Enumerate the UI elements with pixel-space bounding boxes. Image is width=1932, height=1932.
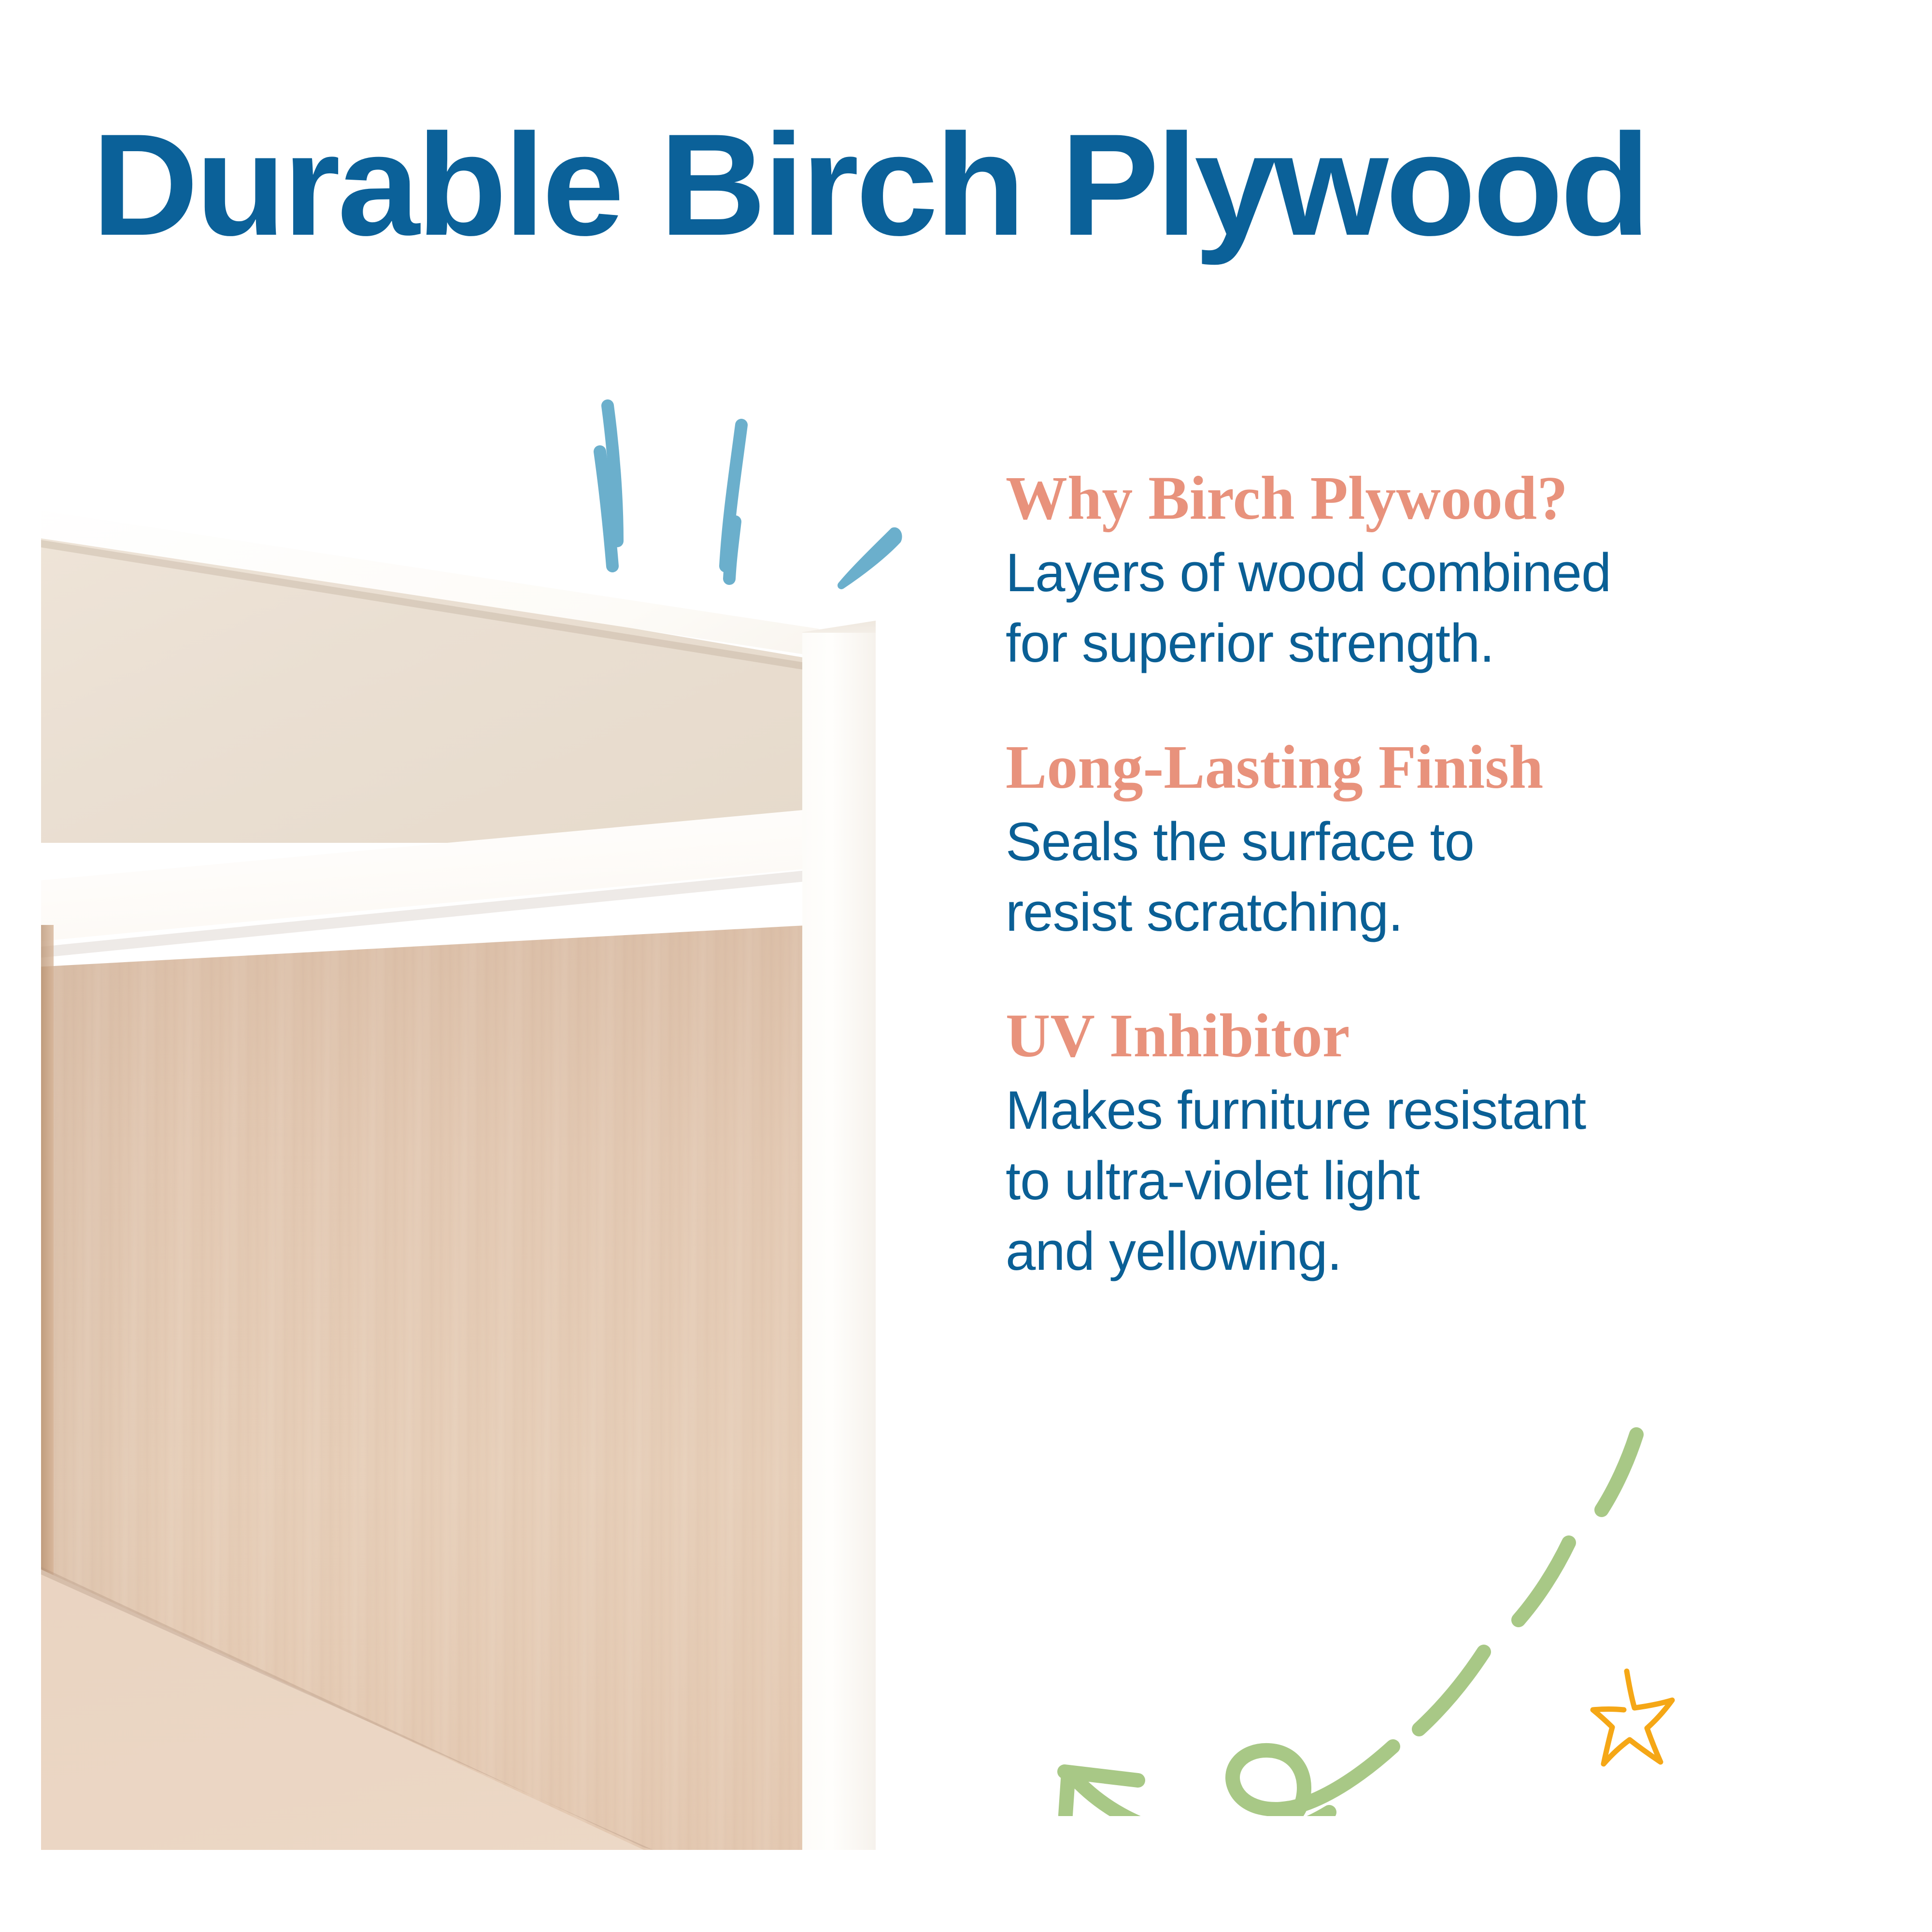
feature-item-why-birch-plywood: Why Birch Plywood? Layers of wood combin… xyxy=(1006,464,1889,679)
sparkle-accent-group xyxy=(555,377,952,594)
feature-heading: Long-Lasting Finish xyxy=(1006,733,1889,802)
star-outline xyxy=(1593,1671,1672,1764)
page-title: Durable Birch Plywood xyxy=(92,112,1885,257)
feature-body-line: Seals the surface to xyxy=(1006,807,1889,877)
feature-body: Layers of wood combined for superior str… xyxy=(1006,538,1889,678)
feature-item-long-lasting-finish: Long-Lasting Finish Seals the surface to… xyxy=(1006,733,1889,948)
star-icon xyxy=(1589,1647,1695,1773)
feature-body-line: to ultra-violet light xyxy=(1006,1146,1889,1216)
product-photo-image xyxy=(41,476,876,1850)
feature-item-uv-inhibitor: UV Inhibitor Makes furniture resistant t… xyxy=(1006,1001,1889,1286)
cabinet-side-panel xyxy=(802,633,876,1850)
infographic-canvas: Durable Birch Plywood xyxy=(0,0,1932,1932)
arrowhead-barb-upper xyxy=(1065,1772,1138,1780)
feature-list: Why Birch Plywood? Layers of wood combin… xyxy=(1006,464,1889,1286)
feature-body-line: and yellowing. xyxy=(1006,1216,1889,1287)
product-photo xyxy=(41,476,876,1850)
arrow-dash-3 xyxy=(1419,1652,1484,1729)
feature-heading: UV Inhibitor xyxy=(1006,1001,1889,1070)
feature-heading: Why Birch Plywood? xyxy=(1006,464,1889,533)
sparkle-stroke-icon xyxy=(600,406,741,579)
sparkle-diagonal-icon xyxy=(841,531,898,585)
feature-body-line: for superior strength. xyxy=(1006,608,1889,679)
arrow-loop xyxy=(1233,1747,1393,1816)
feature-body: Seals the surface to resist scratching. xyxy=(1006,807,1889,947)
feature-body: Makes furniture resistant to ultra-viole… xyxy=(1006,1075,1889,1286)
arrow-dash-2 xyxy=(1519,1543,1569,1620)
arrow-dash-1 xyxy=(1602,1435,1636,1510)
feature-body-line: Makes furniture resistant xyxy=(1006,1075,1889,1146)
feature-body-line: resist scratching. xyxy=(1006,877,1889,948)
feature-body-line: Layers of wood combined xyxy=(1006,538,1889,608)
